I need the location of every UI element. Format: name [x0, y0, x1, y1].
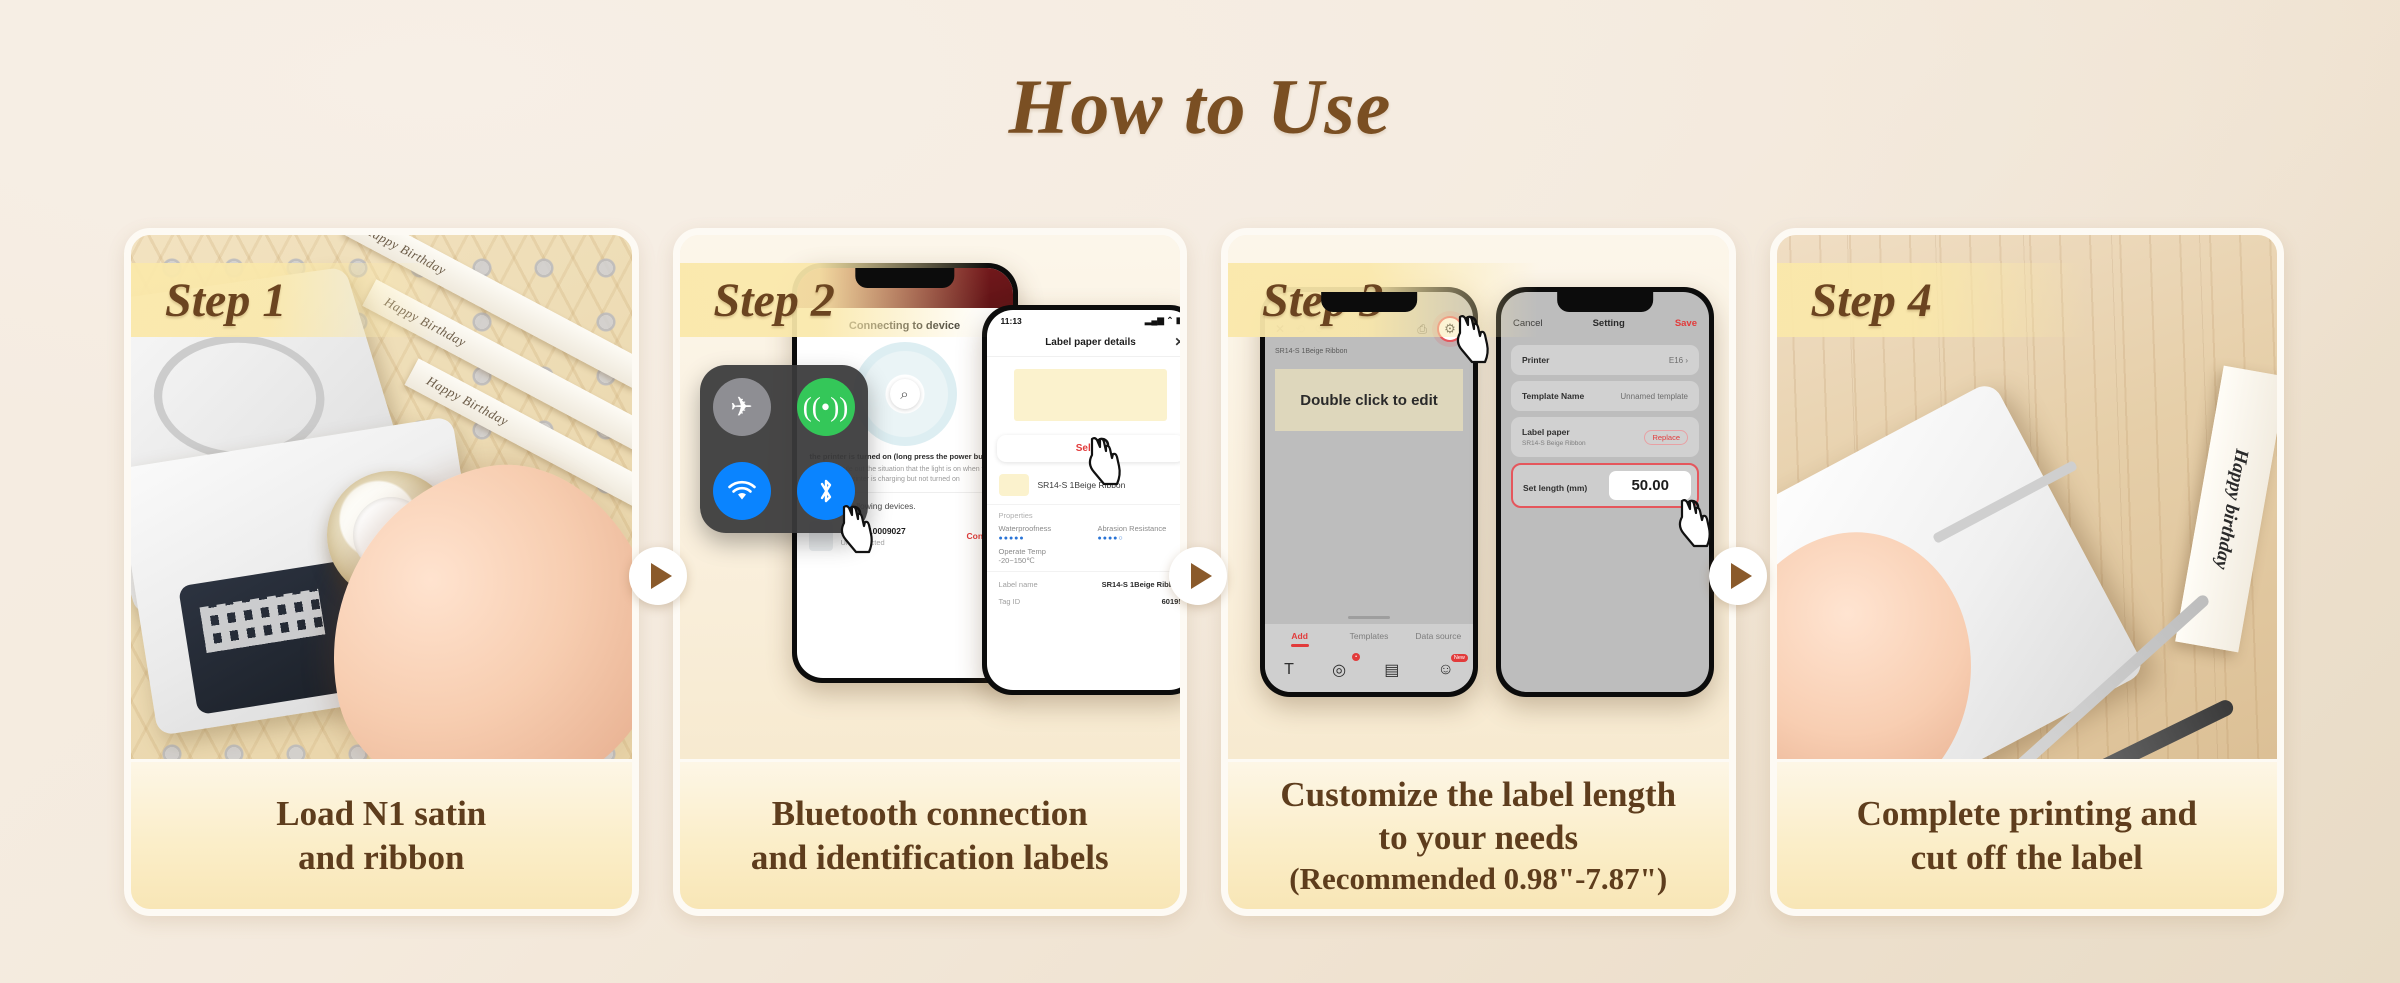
header-title: Label paper details	[1045, 337, 1136, 348]
label-item-name: SR14-S 1Beige Ribbon	[1038, 480, 1126, 490]
sheet-handle[interactable]	[1348, 616, 1390, 619]
properties-section: Properties Waterproofness ●●●●● Abrasion…	[987, 504, 1181, 565]
play-arrow-1[interactable]	[629, 547, 687, 605]
prop-label: Waterproofness	[999, 524, 1084, 533]
kv-key: Tag ID	[999, 597, 1021, 606]
status-bar: 11:13 ▂▄▆ ⌃ ▮	[987, 310, 1181, 328]
tool-badge: •	[1352, 653, 1360, 661]
setting-row-template-name[interactable]: Template Name Unnamed template	[1511, 381, 1699, 411]
step-card-1[interactable]: Happy Birthday Happy Birthday Happy Birt…	[124, 228, 639, 916]
step-card-2[interactable]: Connecting to device ⌕ the printer is tu…	[673, 228, 1188, 916]
row-value: Unnamed template	[1620, 392, 1688, 401]
caption-line: and ribbon	[298, 836, 464, 879]
magnifier-icon: ⌕	[890, 379, 920, 409]
how-to-use-infographic: How to Use Happy Birthday Happy Birthday…	[0, 0, 2400, 983]
tab-templates[interactable]: Templates	[1334, 624, 1403, 652]
step-1-caption: Load N1 satin and ribbon	[131, 759, 632, 909]
kv-value: SR14-S 1Beige Ribbon	[1102, 580, 1180, 589]
phone-label-paper-details: 11:13 ▂▄▆ ⌃ ▮ Label paper details ✕ Sele…	[982, 305, 1181, 695]
phone-notch	[855, 268, 954, 288]
play-arrow-3[interactable]	[1709, 547, 1767, 605]
page-title: How to Use	[0, 62, 2400, 152]
caption-line: Load N1 satin	[276, 792, 486, 835]
set-length-label: Set length (mm)	[1523, 483, 1587, 493]
step-2-label: Step 2	[714, 273, 835, 328]
kv-row: Label name SR14-S 1Beige Ribbon	[987, 571, 1181, 593]
caption-line: Bluetooth connection	[772, 792, 1088, 835]
prop-value: -20~150℃	[999, 556, 1181, 565]
row-key: Printer	[1522, 355, 1549, 365]
save-button[interactable]: Save	[1675, 318, 1697, 329]
label-item-row: SR14-S 1Beige Ribbon	[987, 462, 1181, 504]
row-key: Template Name	[1522, 391, 1584, 401]
prop-rating: ●●●●●	[999, 535, 1084, 542]
phone-notch	[1321, 292, 1417, 312]
kv-value: 60195	[1162, 597, 1180, 606]
kv-row: Tag ID 60195	[987, 593, 1181, 610]
tab-add[interactable]: Add	[1265, 624, 1334, 652]
editor-tool-strip: T ◎• ▤ ☺New	[1265, 652, 1473, 692]
step-3-media: ✕ ⟲ ⟳ ⎙ ⚙ SR14-S 1Beige Ribbon Double cl…	[1228, 235, 1729, 759]
text-tool-icon[interactable]: T	[1284, 661, 1294, 679]
step-1-media: Happy Birthday Happy Birthday Happy Birt…	[131, 235, 632, 759]
caption-line: and identification labels	[751, 836, 1109, 879]
step-2-caption: Bluetooth connection and identification …	[680, 759, 1181, 909]
editor-screen: ✕ ⟲ ⟳ ⎙ ⚙ SR14-S 1Beige Ribbon Double cl…	[1265, 292, 1473, 692]
setting-row-printer[interactable]: Printer E16 ›	[1511, 345, 1699, 375]
bluetooth-icon[interactable]	[797, 462, 855, 520]
prop-label: Abrasion Resistance	[1098, 524, 1181, 533]
step-1-banner: Step 1	[131, 263, 441, 337]
label-swatch	[999, 474, 1029, 496]
select-button[interactable]: Select	[997, 435, 1181, 462]
replace-button[interactable]: Replace	[1644, 430, 1688, 445]
caption-line: to your needs	[1378, 816, 1578, 859]
setting-title: Setting	[1593, 318, 1625, 329]
row-value: E16 ›	[1669, 356, 1688, 365]
step-2-media: Connecting to device ⌕ the printer is tu…	[680, 235, 1181, 759]
step-4-caption: Complete printing and cut off the label	[1777, 759, 2278, 909]
control-center-panel[interactable]: ✈ ((•))	[700, 365, 868, 533]
set-length-value[interactable]: 50.00	[1609, 471, 1691, 500]
phone-setting: Cancel Setting Save Printer E16 › Templa…	[1496, 287, 1714, 697]
step-card-3[interactable]: ✕ ⟲ ⟳ ⎙ ⚙ SR14-S 1Beige Ribbon Double cl…	[1221, 228, 1736, 916]
setting-screen: Cancel Setting Save Printer E16 › Templa…	[1501, 292, 1709, 692]
status-time: 11:13	[1001, 316, 1022, 326]
editor-canvas[interactable]: Double click to edit	[1275, 369, 1463, 431]
properties-title: Properties	[999, 511, 1181, 520]
image-tool-icon[interactable]: ▤	[1384, 660, 1399, 680]
airplane-mode-icon[interactable]: ✈	[713, 378, 771, 436]
step-1-label: Step 1	[165, 273, 286, 328]
tool-badge: New	[1451, 654, 1468, 662]
label-preview	[1014, 369, 1168, 421]
step-4-banner: Step 4	[1777, 263, 2087, 337]
kv-key: Label name	[999, 580, 1038, 589]
step-card-4[interactable]: Happy birthday Step 4 Complete printing …	[1770, 228, 2285, 916]
row-subvalue: SR14-S Beige Ribbon	[1522, 440, 1586, 447]
label-details-screen: 11:13 ▂▄▆ ⌃ ▮ Label paper details ✕ Sele…	[987, 310, 1181, 690]
row-key: Label paper	[1522, 427, 1586, 437]
scanning-radar: ⌕	[853, 342, 957, 446]
printed-label-text: Happy birthday	[2210, 447, 2253, 571]
status-icons: ▂▄▆ ⌃ ▮	[1145, 315, 1180, 326]
editor-tabs: Add Templates Data source	[1265, 624, 1473, 652]
caption-line: (Recommended 0.98"-7.87")	[1289, 860, 1667, 898]
setting-row-label-paper[interactable]: Label paper SR14-S Beige Ribbon Replace	[1511, 417, 1699, 457]
editor-paper-name[interactable]: SR14-S 1Beige Ribbon	[1265, 346, 1473, 363]
caption-line: Complete printing and	[1857, 792, 2197, 835]
step-4-label: Step 4	[1811, 273, 1932, 328]
phone-notch	[1557, 292, 1653, 312]
close-icon[interactable]: ✕	[1174, 335, 1180, 349]
device-status: Unconnected	[841, 538, 959, 547]
step-4-media: Happy birthday Step 4	[1777, 235, 2278, 759]
label-details-header: Label paper details ✕	[987, 328, 1181, 357]
shapes-tool-icon[interactable]: ◎•	[1332, 660, 1346, 680]
tab-data-source[interactable]: Data source	[1404, 624, 1473, 652]
phone-label-editor: ✕ ⟲ ⟳ ⎙ ⚙ SR14-S 1Beige Ribbon Double cl…	[1260, 287, 1478, 697]
play-arrow-2[interactable]	[1169, 547, 1227, 605]
prop-label: Operate Temp	[999, 547, 1181, 556]
emoji-tool-icon[interactable]: ☺New	[1438, 661, 1454, 679]
cellular-data-icon[interactable]: ((•))	[797, 378, 855, 436]
wifi-icon[interactable]	[713, 462, 771, 520]
step-3-caption: Customize the label length to your needs…	[1228, 759, 1729, 909]
caption-line: cut off the label	[1911, 836, 2143, 879]
prop-rating: ●●●●○	[1098, 535, 1181, 542]
caption-line: Customize the label length	[1280, 773, 1676, 816]
